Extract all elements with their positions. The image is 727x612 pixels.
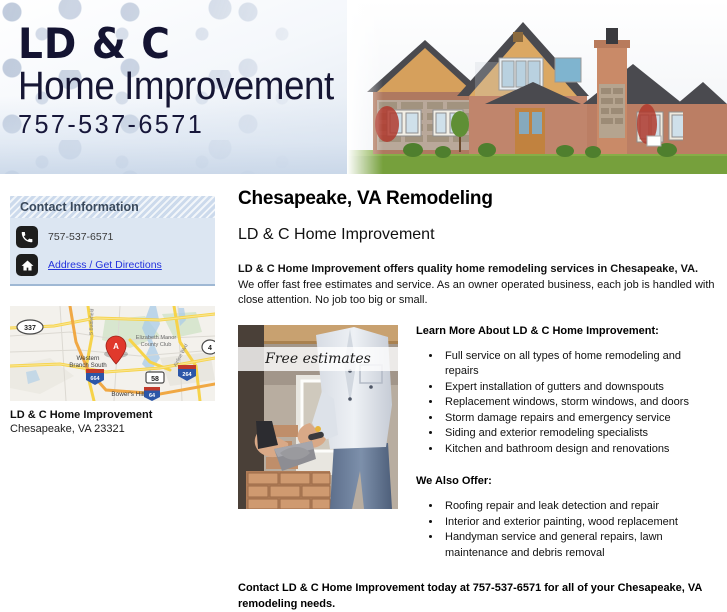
also-offer-heading: We Also Offer: (416, 475, 716, 487)
contact-row-address[interactable]: Address / Get Directions (16, 251, 215, 279)
list-item: Interior and exterior painting, wood rep… (442, 515, 716, 531)
svg-text:4: 4 (208, 345, 212, 352)
logo-phone-number: 757-537-6571 (18, 109, 351, 139)
list-item: Expert installation of gutters and downs… (442, 380, 716, 396)
svg-text:County Club: County Club (141, 342, 172, 348)
list-item: Full service on all types of home remode… (442, 349, 716, 380)
svg-text:58: 58 (151, 376, 159, 383)
mason-photo: Free estimates (238, 325, 398, 509)
services-lists: Learn More About LD & C Home Improvement… (398, 325, 716, 562)
closing-paragraph: Contact LD & C Home Improvement today at… (238, 581, 716, 612)
logo-line-secondary: Home Improvement (18, 64, 334, 108)
address-get-directions-link[interactable]: Address / Get Directions (48, 259, 162, 271)
contact-rows: 757-537-6571 Address / Get Directions (10, 218, 215, 281)
contact-information-heading: Contact Information (10, 196, 215, 218)
intro-body: We offer fast free estimates and service… (238, 279, 715, 307)
svg-text:337: 337 (24, 325, 36, 332)
svg-text:664: 664 (90, 376, 100, 382)
intro-paragraph: LD & C Home Improvement offers quality h… (238, 262, 716, 309)
list-item: Replacement windows, storm windows, and … (442, 395, 716, 411)
list-item: Roofing repair and leak detection and re… (442, 499, 716, 515)
page-subtitle: LD & C Home Improvement (238, 226, 716, 244)
location-map[interactable]: 337 58 4 664 (10, 306, 215, 401)
list-item: Kitchen and bathroom design and renovati… (442, 442, 716, 458)
list-item: Storm damage repairs and emergency servi… (442, 411, 716, 427)
contact-phone-value: 757-537-6571 (48, 231, 113, 243)
also-offer-list: Roofing repair and leak detection and re… (416, 499, 716, 561)
list-item: Handyman service and general repairs, la… (442, 530, 716, 561)
svg-text:Western: Western (77, 355, 100, 362)
main-column: Chesapeake, VA Remodeling LD & C Home Im… (238, 188, 716, 612)
map-shield-4: 4 (202, 340, 215, 354)
free-estimates-text: Free estimates (265, 351, 371, 367)
svg-text:64: 64 (149, 393, 156, 399)
services-section: Free estimates Learn More About LD & C H… (238, 325, 716, 562)
learn-more-heading: Learn More About LD & C Home Improvement… (416, 325, 716, 337)
business-name: LD & C Home Improvement (10, 409, 215, 421)
logo-line-primary: LD & C (18, 22, 337, 66)
phone-icon (16, 226, 38, 248)
site-banner: LD & C Home Improvement 757-537-6571 (0, 0, 727, 174)
learn-more-list: Full service on all types of home remode… (416, 349, 716, 458)
free-estimates-overlay: Free estimates (238, 347, 398, 371)
photo-column: Free estimates (238, 325, 398, 562)
page-title: Chesapeake, VA Remodeling (238, 188, 716, 210)
location-map-section: 337 58 4 664 (10, 306, 215, 435)
site-logo: LD & C Home Improvement 757-537-6571 (18, 22, 361, 139)
svg-text:A: A (113, 342, 119, 351)
home-icon (16, 254, 38, 276)
svg-text:Bower's Hill: Bower's Hill (111, 391, 144, 398)
map-shield-337: 337 (17, 320, 43, 334)
map-caption: LD & C Home Improvement Chesapeake, VA 2… (10, 409, 215, 435)
list-item: Siding and exterior remodeling specialis… (442, 426, 716, 442)
svg-text:Elizabeth Manor: Elizabeth Manor (136, 335, 177, 341)
svg-text:264: 264 (182, 372, 192, 378)
svg-text:S Battlefield: S Battlefield (89, 308, 96, 335)
banner-house-photo (347, 0, 727, 174)
sidebar: Contact Information 757-537-6571 (10, 196, 220, 435)
intro-lead: LD & C Home Improvement offers quality h… (238, 263, 698, 275)
contact-information-box: Contact Information 757-537-6571 (10, 196, 215, 286)
contact-row-phone: 757-537-6571 (16, 223, 215, 251)
page-root: LD & C Home Improvement 757-537-6571 Con… (0, 0, 727, 545)
map-shield-58: 58 (146, 372, 164, 383)
svg-text:Branch South: Branch South (69, 362, 107, 369)
business-address: Chesapeake, VA 23321 (10, 423, 215, 435)
